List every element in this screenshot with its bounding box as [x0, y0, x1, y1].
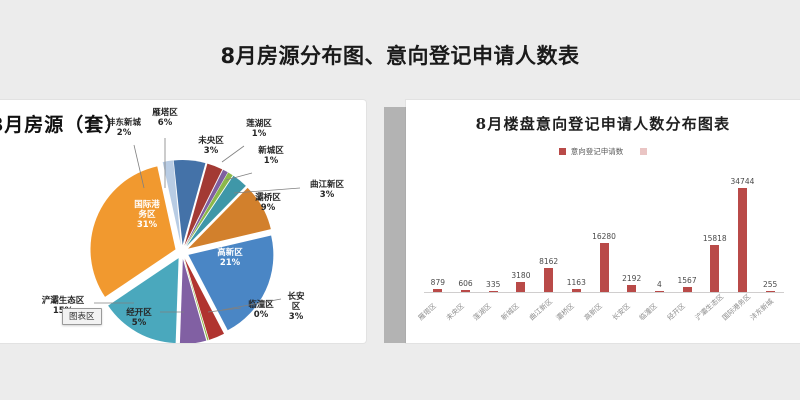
bar-rect[interactable]: [516, 282, 525, 292]
bar-plot-area[interactable]: 8796063353180816211631628021924156715818…: [424, 172, 784, 292]
bar-x-tick-label: 国际港务区: [721, 292, 754, 323]
pie-slice-label: 沣东新城2%: [98, 118, 150, 138]
pie-slice-label-name: 未央区: [198, 136, 224, 146]
pie-slice-label-percent: 2%: [98, 128, 150, 138]
pie-slice-label-name: 国际港务区: [134, 200, 160, 220]
pie-slice-label-percent: 3%: [190, 146, 232, 156]
bar-rect[interactable]: [738, 188, 747, 292]
bar-x-tick-label: 高新区: [582, 301, 604, 322]
bar-value-label: 16280: [592, 232, 616, 241]
panel-divider: [384, 107, 406, 343]
bar-value-label: 1567: [678, 276, 697, 285]
page-title: 8月房源分布图、意向登记申请人数表: [0, 40, 800, 70]
pie-slice-label-name: 雁塔区: [152, 108, 178, 118]
pie-chart-area[interactable]: 雁塔区6%未央区3%莲湖区1%新城区1%曲江新区3%灞桥区9%高新区21%长安区…: [0, 100, 366, 343]
bar-axis-baseline: [424, 292, 784, 293]
pie-slice-label-name: 高新区: [217, 248, 243, 258]
pie-slice-label-name: 经开区: [126, 308, 152, 318]
pie-slice-label: 未央区3%: [190, 136, 232, 156]
bar-x-tick-label: 沣东新城: [748, 297, 775, 323]
pie-slice-label-name: 曲江新区: [310, 180, 344, 190]
bar-x-tick-label: 新城区: [499, 301, 521, 322]
pie-slice-label: 曲江新区3%: [300, 180, 354, 200]
pie-slice-label-percent: 5%: [118, 318, 160, 328]
pie-slice-label: 长安区3%: [279, 292, 313, 322]
pie-slice-label-percent: 9%: [247, 203, 289, 213]
bar-column[interactable]: 16280: [591, 172, 617, 292]
pie-slice-label: 灞桥区9%: [247, 193, 289, 213]
pie-slice-label-name: 莲湖区: [246, 119, 272, 129]
pie-slice-label: 高新区21%: [209, 248, 251, 268]
bar-value-label: 15818: [703, 234, 727, 243]
bar-chart-title: 8月楼盘意向登记申请人数分布图表: [406, 113, 800, 134]
bar-column[interactable]: 879: [425, 172, 451, 292]
bar-column[interactable]: 1567: [674, 172, 700, 292]
pie-slice-label-percent: 3%: [279, 312, 313, 322]
bar-column[interactable]: 15818: [702, 172, 728, 292]
pie-slice-label-name: 灞桥区: [255, 193, 281, 203]
pie-slice-label: 新城区1%: [250, 146, 292, 166]
bar-rect[interactable]: [544, 268, 553, 292]
pie-slice-label-name: 新城区: [258, 146, 284, 156]
bar-chart-legend[interactable]: 意向登记申请数: [406, 146, 800, 157]
pie-slice-label-percent: 3%: [300, 190, 354, 200]
pie-slice-label: 莲湖区1%: [238, 119, 280, 139]
bar-x-tick-label: 未央区: [444, 301, 466, 322]
bar-x-tick-label: 长安区: [610, 301, 632, 322]
pie-slice-label-name: 临潼区: [248, 300, 274, 310]
slide-canvas: 8月房源分布图、意向登记申请人数表 8月房源（套） 雁塔区6%未央区3%莲湖区1…: [0, 0, 800, 400]
bar-column[interactable]: 34744: [729, 172, 755, 292]
bar-column[interactable]: 4: [646, 172, 672, 292]
bar-value-label: 1163: [567, 278, 586, 287]
bar-chart-panel: 8月楼盘意向登记申请人数分布图表 意向登记申请数 879606335318081…: [406, 100, 800, 343]
bar-value-label: 2192: [622, 274, 641, 283]
bar-rect[interactable]: [710, 245, 719, 292]
bar-column[interactable]: 255: [757, 172, 783, 292]
legend-swatch-icon: [559, 148, 566, 155]
bar-x-tick-label: 雁塔区: [416, 301, 438, 322]
bar-x-tick-label: 灞桥区: [555, 301, 577, 322]
bar-x-tick-label: 莲湖区: [471, 301, 493, 322]
bar-x-axis-labels: 雁塔区未央区莲湖区新城区曲江新区灞桥区高新区长安区临潼区经开区浐灞生态区国际港务…: [424, 294, 784, 344]
bar-value-label: 3180: [511, 271, 530, 280]
pie-slice-label-percent: 21%: [209, 258, 251, 268]
pie-chart-panel: 8月房源（套） 雁塔区6%未央区3%莲湖区1%新城区1%曲江新区3%灞桥区9%高…: [0, 100, 366, 343]
pie-slice-label: 临潼区0%: [240, 300, 282, 320]
bar-x-tick-label: 浐灞生态区: [693, 292, 726, 323]
bar-value-label: 4: [657, 280, 662, 289]
bar-x-tick-label: 曲江新区: [527, 297, 554, 323]
legend-swatch-secondary-icon: [640, 148, 647, 155]
bar-rect[interactable]: [600, 243, 609, 292]
bar-column[interactable]: 2192: [619, 172, 645, 292]
pie-slice-label-name: 长安区: [287, 292, 304, 312]
bar-x-tick-label: 经开区: [665, 301, 687, 322]
legend-label: 意向登记申请数: [571, 146, 624, 157]
bar-column[interactable]: 3180: [508, 172, 534, 292]
pie-slice-label-percent: 0%: [240, 310, 282, 320]
pie-slice-label-percent: 1%: [238, 129, 280, 139]
bar-column[interactable]: 1163: [563, 172, 589, 292]
bar-column[interactable]: 335: [480, 172, 506, 292]
pie-slice-label-name: 浐灞生态区: [42, 296, 85, 306]
pie-slice-label-percent: 1%: [250, 156, 292, 166]
bar-value-label: 255: [763, 280, 777, 289]
bar-column[interactable]: 606: [453, 172, 479, 292]
pie-slice-label: 经开区5%: [118, 308, 160, 328]
pie-slice-label-percent: 31%: [124, 220, 170, 230]
bar-value-label: 34744: [731, 177, 755, 186]
bar-column[interactable]: 8162: [536, 172, 562, 292]
bar-value-label: 8162: [539, 257, 558, 266]
bar-value-label: 606: [458, 279, 472, 288]
bar-x-tick-label: 临潼区: [638, 301, 660, 322]
chart-area-tooltip: 图表区: [62, 308, 102, 325]
pie-slice-label-name: 沣东新城: [107, 118, 141, 128]
bar-value-label: 879: [431, 278, 445, 287]
pie-slice-label: 国际港务区31%: [124, 200, 170, 230]
bar-value-label: 335: [486, 280, 500, 289]
